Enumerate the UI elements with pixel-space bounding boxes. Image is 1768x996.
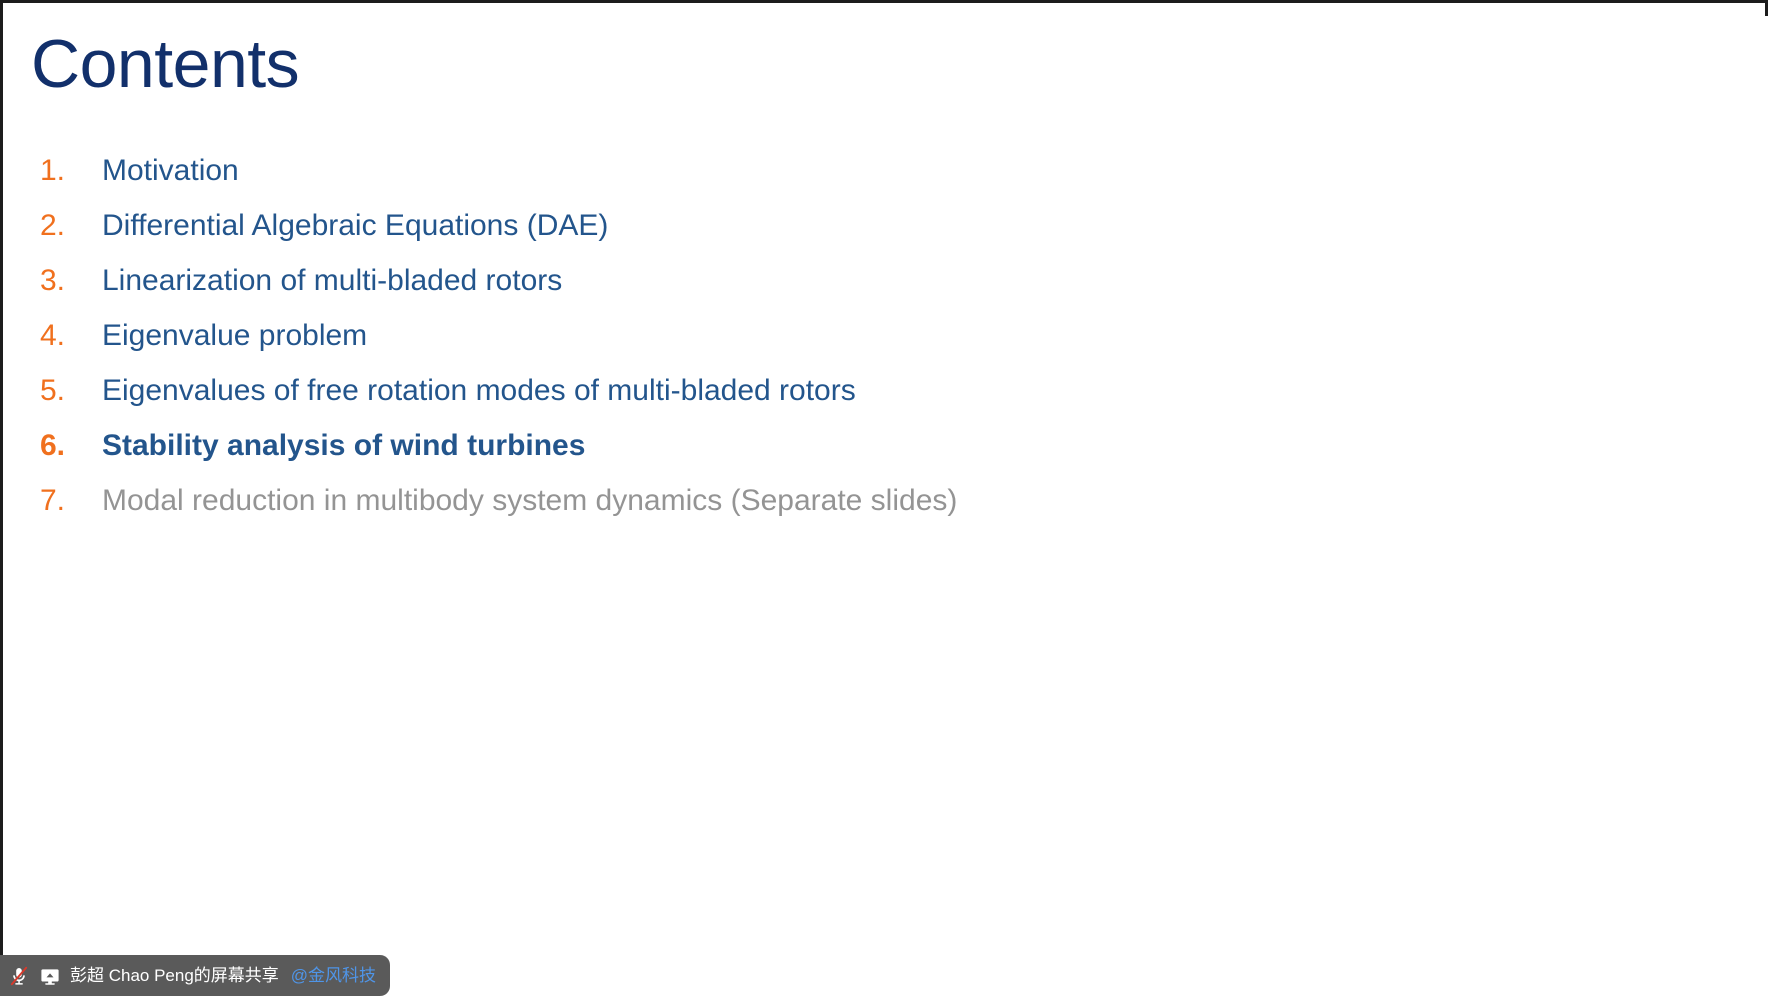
share-org-text: @金风科技	[291, 966, 376, 986]
list-item-label: Modal reduction in multibody system dyna…	[102, 473, 957, 528]
presentation-slide: Contents 1. Motivation 2. Differential A…	[0, 0, 1768, 996]
microphone-muted-icon[interactable]	[8, 965, 30, 987]
list-item: 4. Eigenvalue problem	[40, 308, 1640, 363]
screen-share-status-bar[interactable]: 彭超 Chao Peng的屏幕共享 @金风科技	[0, 955, 390, 996]
list-item-label: Linearization of multi-bladed rotors	[102, 253, 562, 308]
list-item-number: 5.	[40, 363, 102, 418]
list-item-number: 2.	[40, 198, 102, 253]
list-item: 5. Eigenvalues of free rotation modes of…	[40, 363, 1640, 418]
list-item-number: 1.	[40, 143, 102, 198]
page-title: Contents	[31, 30, 299, 98]
list-item: 3. Linearization of multi-bladed rotors	[40, 253, 1640, 308]
slide-border-top	[0, 0, 1768, 3]
list-item-dimmed: 7. Modal reduction in multibody system d…	[40, 473, 1640, 528]
list-item-number: 7.	[40, 473, 102, 528]
list-item-label: Eigenvalues of free rotation modes of mu…	[102, 363, 856, 418]
list-item-label: Motivation	[102, 143, 239, 198]
list-item: 2. Differential Algebraic Equations (DAE…	[40, 198, 1640, 253]
share-title-text: 彭超 Chao Peng的屏幕共享	[70, 966, 279, 986]
list-item-label: Stability analysis of wind turbines	[102, 418, 585, 473]
list-item-number: 4.	[40, 308, 102, 363]
contents-list: 1. Motivation 2. Differential Algebraic …	[40, 143, 1640, 528]
list-item-label: Eigenvalue problem	[102, 308, 367, 363]
list-item-number: 6.	[40, 418, 102, 473]
list-item-active: 6. Stability analysis of wind turbines	[40, 418, 1640, 473]
list-item-label: Differential Algebraic Equations (DAE)	[102, 198, 608, 253]
slide-border-left	[0, 0, 3, 958]
screen-share-icon[interactable]	[39, 965, 61, 987]
list-item: 1. Motivation	[40, 143, 1640, 198]
list-item-number: 3.	[40, 253, 102, 308]
